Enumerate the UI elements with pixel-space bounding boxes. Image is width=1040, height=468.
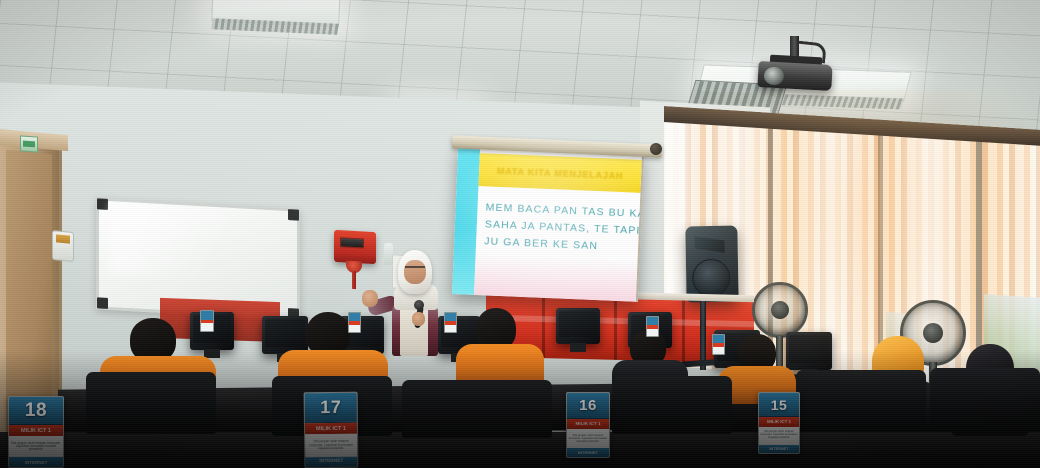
placard-note: Sila jangan ubah tetapan komputer. Lapor… [567, 429, 609, 448]
presenter [372, 250, 450, 356]
placard-note: Sila jangan ubah tetapan komputer. Lapor… [9, 436, 63, 457]
desk-placard-17: 17 MILIK ICT 1 Sila jangan ubah tetapan … [304, 392, 359, 468]
glasses-icon [405, 266, 425, 271]
presenter-face [404, 260, 426, 284]
projector-screen: MATA KITA MENJELAJAH MEM BACA PAN TAS BU… [452, 146, 644, 302]
ceiling-projector [752, 36, 840, 98]
placard-network: INTERNET [305, 456, 357, 467]
chair [930, 368, 1040, 432]
monitor [556, 308, 600, 344]
screen-roller-knob[interactable] [650, 143, 662, 155]
participant [456, 308, 544, 386]
placard-number: 17 [305, 393, 357, 423]
pa-speaker [685, 226, 738, 303]
fire-alarm-panel [334, 230, 376, 264]
presenter-hand [412, 312, 425, 326]
slide-text-block: MEM BACA PAN TAS BU KAN SAHA JA PANTAS, … [484, 199, 632, 256]
chair [796, 370, 926, 432]
placard-network: INTERNET [9, 457, 63, 467]
chair [86, 372, 216, 434]
placard-number: 16 [567, 393, 609, 419]
chair [612, 376, 732, 434]
placard-number: 18 [9, 397, 63, 425]
desk-placard-16: 16 MILIK ICT 1 Sila jangan ubah tetapan … [566, 392, 610, 458]
microphone-head-icon [414, 300, 424, 310]
slide-heading: MATA KITA MENJELAJAH [497, 165, 624, 180]
desk-placard [200, 310, 214, 332]
desk-placard [444, 312, 457, 333]
ceiling-light-fixture [211, 0, 341, 27]
desk-placard [712, 334, 725, 355]
placard-note: Sila jangan ubah tetapan komputer. Lapor… [759, 427, 799, 445]
alarm-conduit [352, 271, 356, 289]
placard-network: INTERNET [567, 448, 609, 457]
whiteboard-glare [110, 204, 260, 282]
placard-warning: MILIK ICT 1 [759, 417, 799, 427]
desk-placard-15: 15 MILIK ICT 1 Sila jangan ubah tetapan … [758, 392, 800, 454]
classroom-photo: MATA KITA MENJELAJAH MEM BACA PAN TAS BU… [0, 0, 1040, 468]
exit-sign-icon [20, 135, 38, 152]
placard-network: INTERNET [759, 445, 799, 453]
placard-note: Sila jangan ubah tetapan komputer. Lapor… [305, 434, 357, 457]
placard-warning: MILIK ICT 1 [305, 422, 357, 434]
placard-warning: MILIK ICT 1 [9, 425, 63, 436]
desk-placard [348, 312, 361, 333]
desk-placard-18: 18 MILIK ICT 1 Sila jangan ubah tetapan … [8, 396, 64, 468]
slide-title-band: MATA KITA MENJELAJAH [479, 153, 642, 193]
placard-warning: MILIK ICT 1 [567, 419, 609, 429]
chair [402, 380, 552, 438]
placard-number: 15 [759, 393, 799, 417]
presenter-hand [362, 290, 378, 307]
presenter-vest [400, 302, 428, 356]
wall-switch[interactable] [52, 230, 74, 262]
desk-placard [646, 316, 659, 337]
